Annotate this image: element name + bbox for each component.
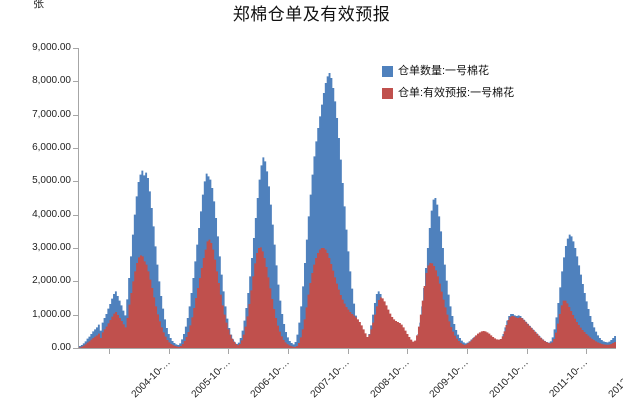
y-axis-tick-label: 7,000.00: [3, 109, 71, 120]
y-axis-tick-label: 4,000.00: [3, 209, 71, 220]
x-axis-tick-label: 2010-10-…: [487, 357, 530, 400]
y-axis-tick-label: 5,000.00: [3, 175, 71, 186]
y-axis-tick-label: 2,000.00: [3, 275, 71, 286]
x-axis-line: [78, 348, 616, 349]
x-axis-tick-label: 2006-10-…: [249, 357, 292, 400]
legend-item[interactable]: 仓单数量:一号棉花: [382, 60, 582, 82]
x-axis-tick-mark: [467, 349, 468, 354]
x-axis-tick-label: 2005-10-…: [189, 357, 232, 400]
x-axis-tick-label: 2007-10-…: [308, 357, 351, 400]
y-axis-tick-mark: [73, 281, 78, 282]
x-axis-tick-mark: [348, 349, 349, 354]
x-axis-tick-mark: [228, 349, 229, 354]
y-axis-tick-mark: [73, 215, 78, 216]
x-axis-tick-label: 2012-10-…: [607, 357, 623, 400]
y-axis-tick-mark: [73, 181, 78, 182]
y-axis-tick-label: 3,000.00: [3, 242, 71, 253]
y-axis-tick-mark: [73, 115, 78, 116]
y-axis-tick-mark: [73, 81, 78, 82]
x-axis-tick-mark: [527, 349, 528, 354]
x-axis-tick-mark: [407, 349, 408, 354]
x-axis-tick-label: 2009-10-…: [428, 357, 471, 400]
chart-container: 张 郑棉仓单及有效预报 0.001,000.002,000.003,000.00…: [0, 0, 623, 403]
legend-label: 仓单数量:一号棉花: [398, 65, 489, 78]
x-axis-tick-mark: [169, 349, 170, 354]
x-axis-tick-label: 2004-10-…: [129, 357, 172, 400]
legend-label: 仓单:有效预报:一号棉花: [398, 87, 514, 100]
series-area-1: [79, 73, 616, 348]
y-axis-tick-mark: [73, 315, 78, 316]
y-axis-tick-mark: [73, 248, 78, 249]
y-axis-tick-label: 1,000.00: [3, 309, 71, 320]
x-axis-tick-label: 2008-10-…: [368, 357, 411, 400]
legend-swatch-icon: [382, 66, 393, 77]
y-axis-tick-label: 0.00: [3, 342, 71, 353]
y-axis-labels: 0.001,000.002,000.003,000.004,000.005,00…: [0, 0, 71, 403]
x-axis-tick-mark: [586, 349, 587, 354]
legend-swatch-icon: [382, 88, 393, 99]
y-axis-tick-mark: [73, 348, 78, 349]
y-axis-tick-mark: [73, 48, 78, 49]
x-axis-tick-mark: [109, 349, 110, 354]
y-axis-tick-label: 9,000.00: [3, 42, 71, 53]
legend-item[interactable]: 仓单:有效预报:一号棉花: [382, 82, 582, 104]
x-axis-tick-label: 2011-10-…: [547, 357, 590, 400]
chart-title: 郑棉仓单及有效预报: [0, 4, 623, 25]
y-axis-tick-mark: [73, 148, 78, 149]
y-axis-tick-label: 8,000.00: [3, 75, 71, 86]
y-axis-tick-label: 6,000.00: [3, 142, 71, 153]
x-axis-tick-mark: [288, 349, 289, 354]
chart-legend: 仓单数量:一号棉花仓单:有效预报:一号棉花: [382, 60, 582, 104]
